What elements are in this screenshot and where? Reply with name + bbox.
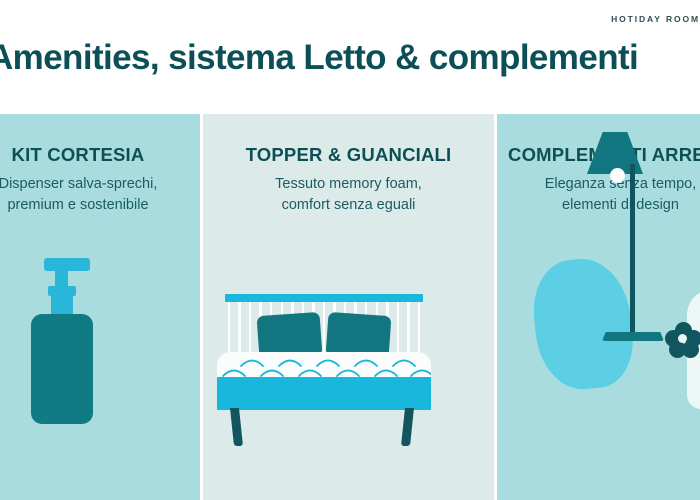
headboard-rail-icon <box>225 294 423 302</box>
brand-label: HOTIDAY ROOM <box>611 14 700 24</box>
light-bulb-icon <box>610 168 625 183</box>
bed-leg-icon <box>230 408 243 446</box>
bed-illustration <box>203 114 494 500</box>
column-topper-guanciali: TOPPER & GUANCIALI Tessuto memory foam, … <box>203 114 494 500</box>
slide: HOTIDAY ROOM Amenities, sistema Letto & … <box>0 0 700 500</box>
lamp-base-icon <box>602 332 664 341</box>
soap-dispenser-illustration <box>0 114 200 500</box>
bed-leg-icon <box>401 408 414 446</box>
columns-container: KIT CORTESIA Dispenser salva-sprechi, pr… <box>0 114 700 500</box>
column-kit-cortesia: KIT CORTESIA Dispenser salva-sprechi, pr… <box>0 114 200 500</box>
dispenser-bottle-icon <box>31 314 93 424</box>
column-complementi-arredo: COMPLEMENTI ARREDO Eleganza senza tempo,… <box>497 114 700 500</box>
lamp-glow-icon <box>528 254 637 393</box>
page-title: Amenities, sistema Letto & complementi <box>0 40 700 75</box>
lamp-pole-icon <box>630 164 635 336</box>
bed-base-icon <box>217 377 431 410</box>
lamp-flowers-illustration <box>497 114 700 500</box>
